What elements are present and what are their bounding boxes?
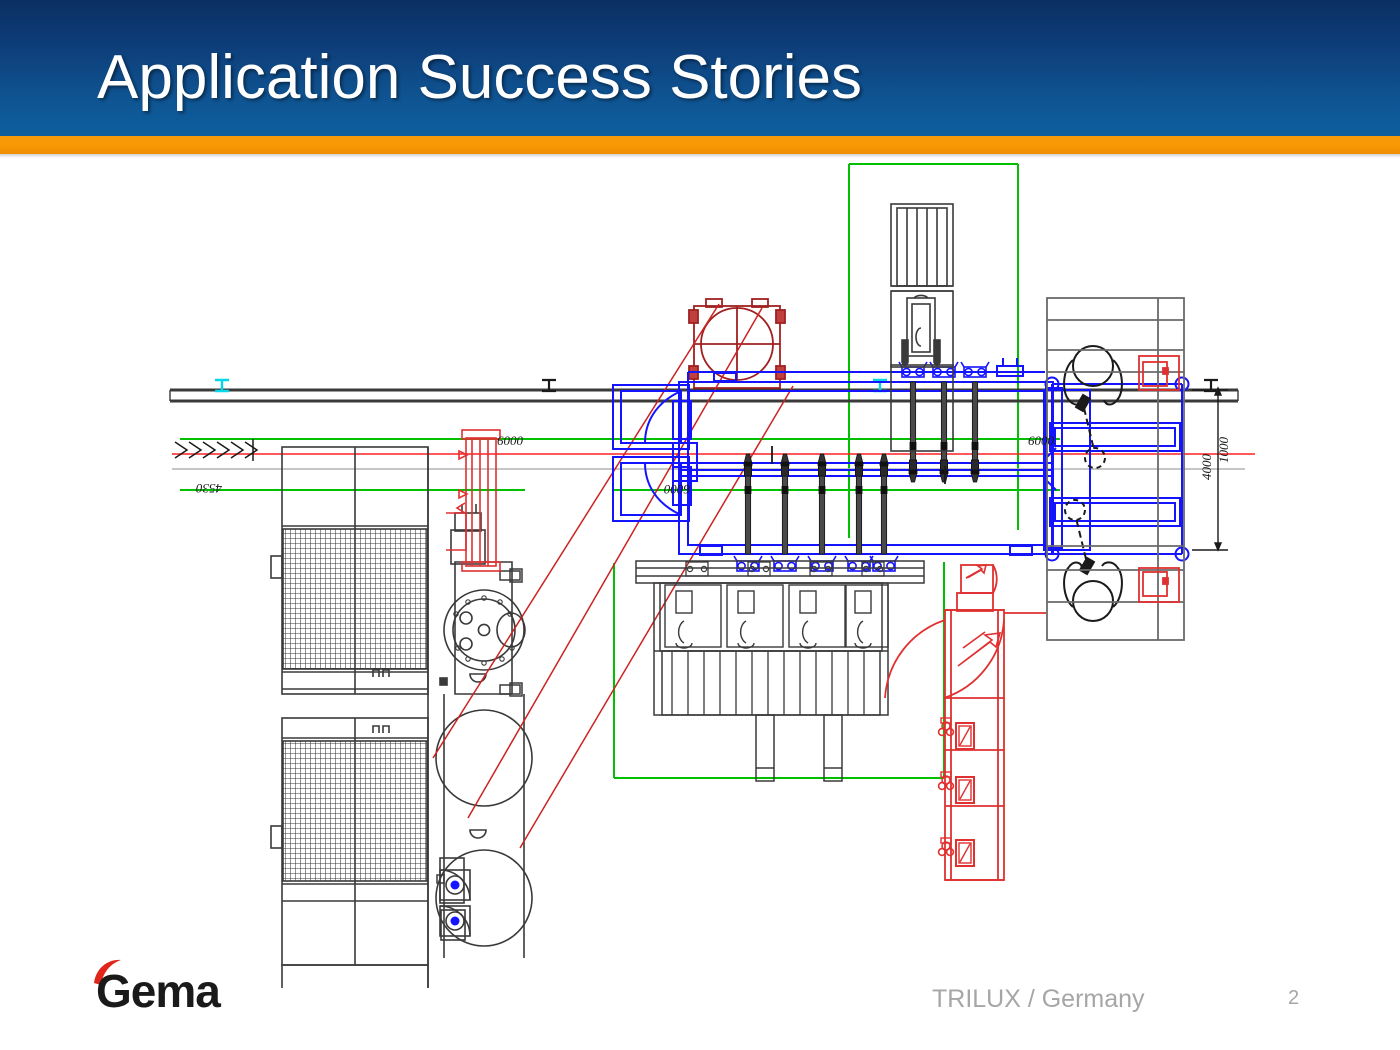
powder-hopper <box>789 585 845 648</box>
page-title: Application Success Stories <box>97 47 862 109</box>
powder-supply-centre <box>636 561 924 781</box>
gema-logo: Gema <box>88 955 288 1015</box>
slide: Application Success Stories <box>0 0 1400 1050</box>
powder-hopper <box>727 585 783 648</box>
dimension-label: 6000 <box>664 482 691 497</box>
slide-header: Application Success Stories <box>0 0 1400 136</box>
right-building-red-boxes <box>1139 356 1179 602</box>
accent-bar <box>0 136 1400 154</box>
dimension-label: 4000 <box>1199 454 1214 481</box>
slide-caption: TRILUX / Germany <box>932 985 1145 1014</box>
powder-hopper <box>665 585 721 648</box>
automatic-gun-row-upper <box>899 362 989 482</box>
page-number: 2 <box>1288 987 1299 1010</box>
wall-hatch-symbol <box>175 439 257 461</box>
gema-wordmark: Gema <box>96 965 221 1015</box>
powder-riser-duct <box>446 430 500 571</box>
dimension-label: 6000 <box>1028 433 1055 448</box>
exhaust-duct-with-dampers <box>885 565 1046 880</box>
dimension-label: 1000 <box>1216 437 1231 464</box>
after-filter-unit-lower <box>271 718 428 965</box>
dimension-label: 4530 <box>196 481 223 496</box>
dimension-labels: 6000 4530 6000 6000 1000 4000 <box>196 433 1232 497</box>
engineering-drawing: 6000 4530 6000 6000 1000 4000 <box>0 158 1400 988</box>
manual-spray-station-operator-top <box>1064 346 1122 468</box>
dimension-label: 6000 <box>497 433 524 448</box>
after-filter-unit-upper <box>271 447 428 694</box>
